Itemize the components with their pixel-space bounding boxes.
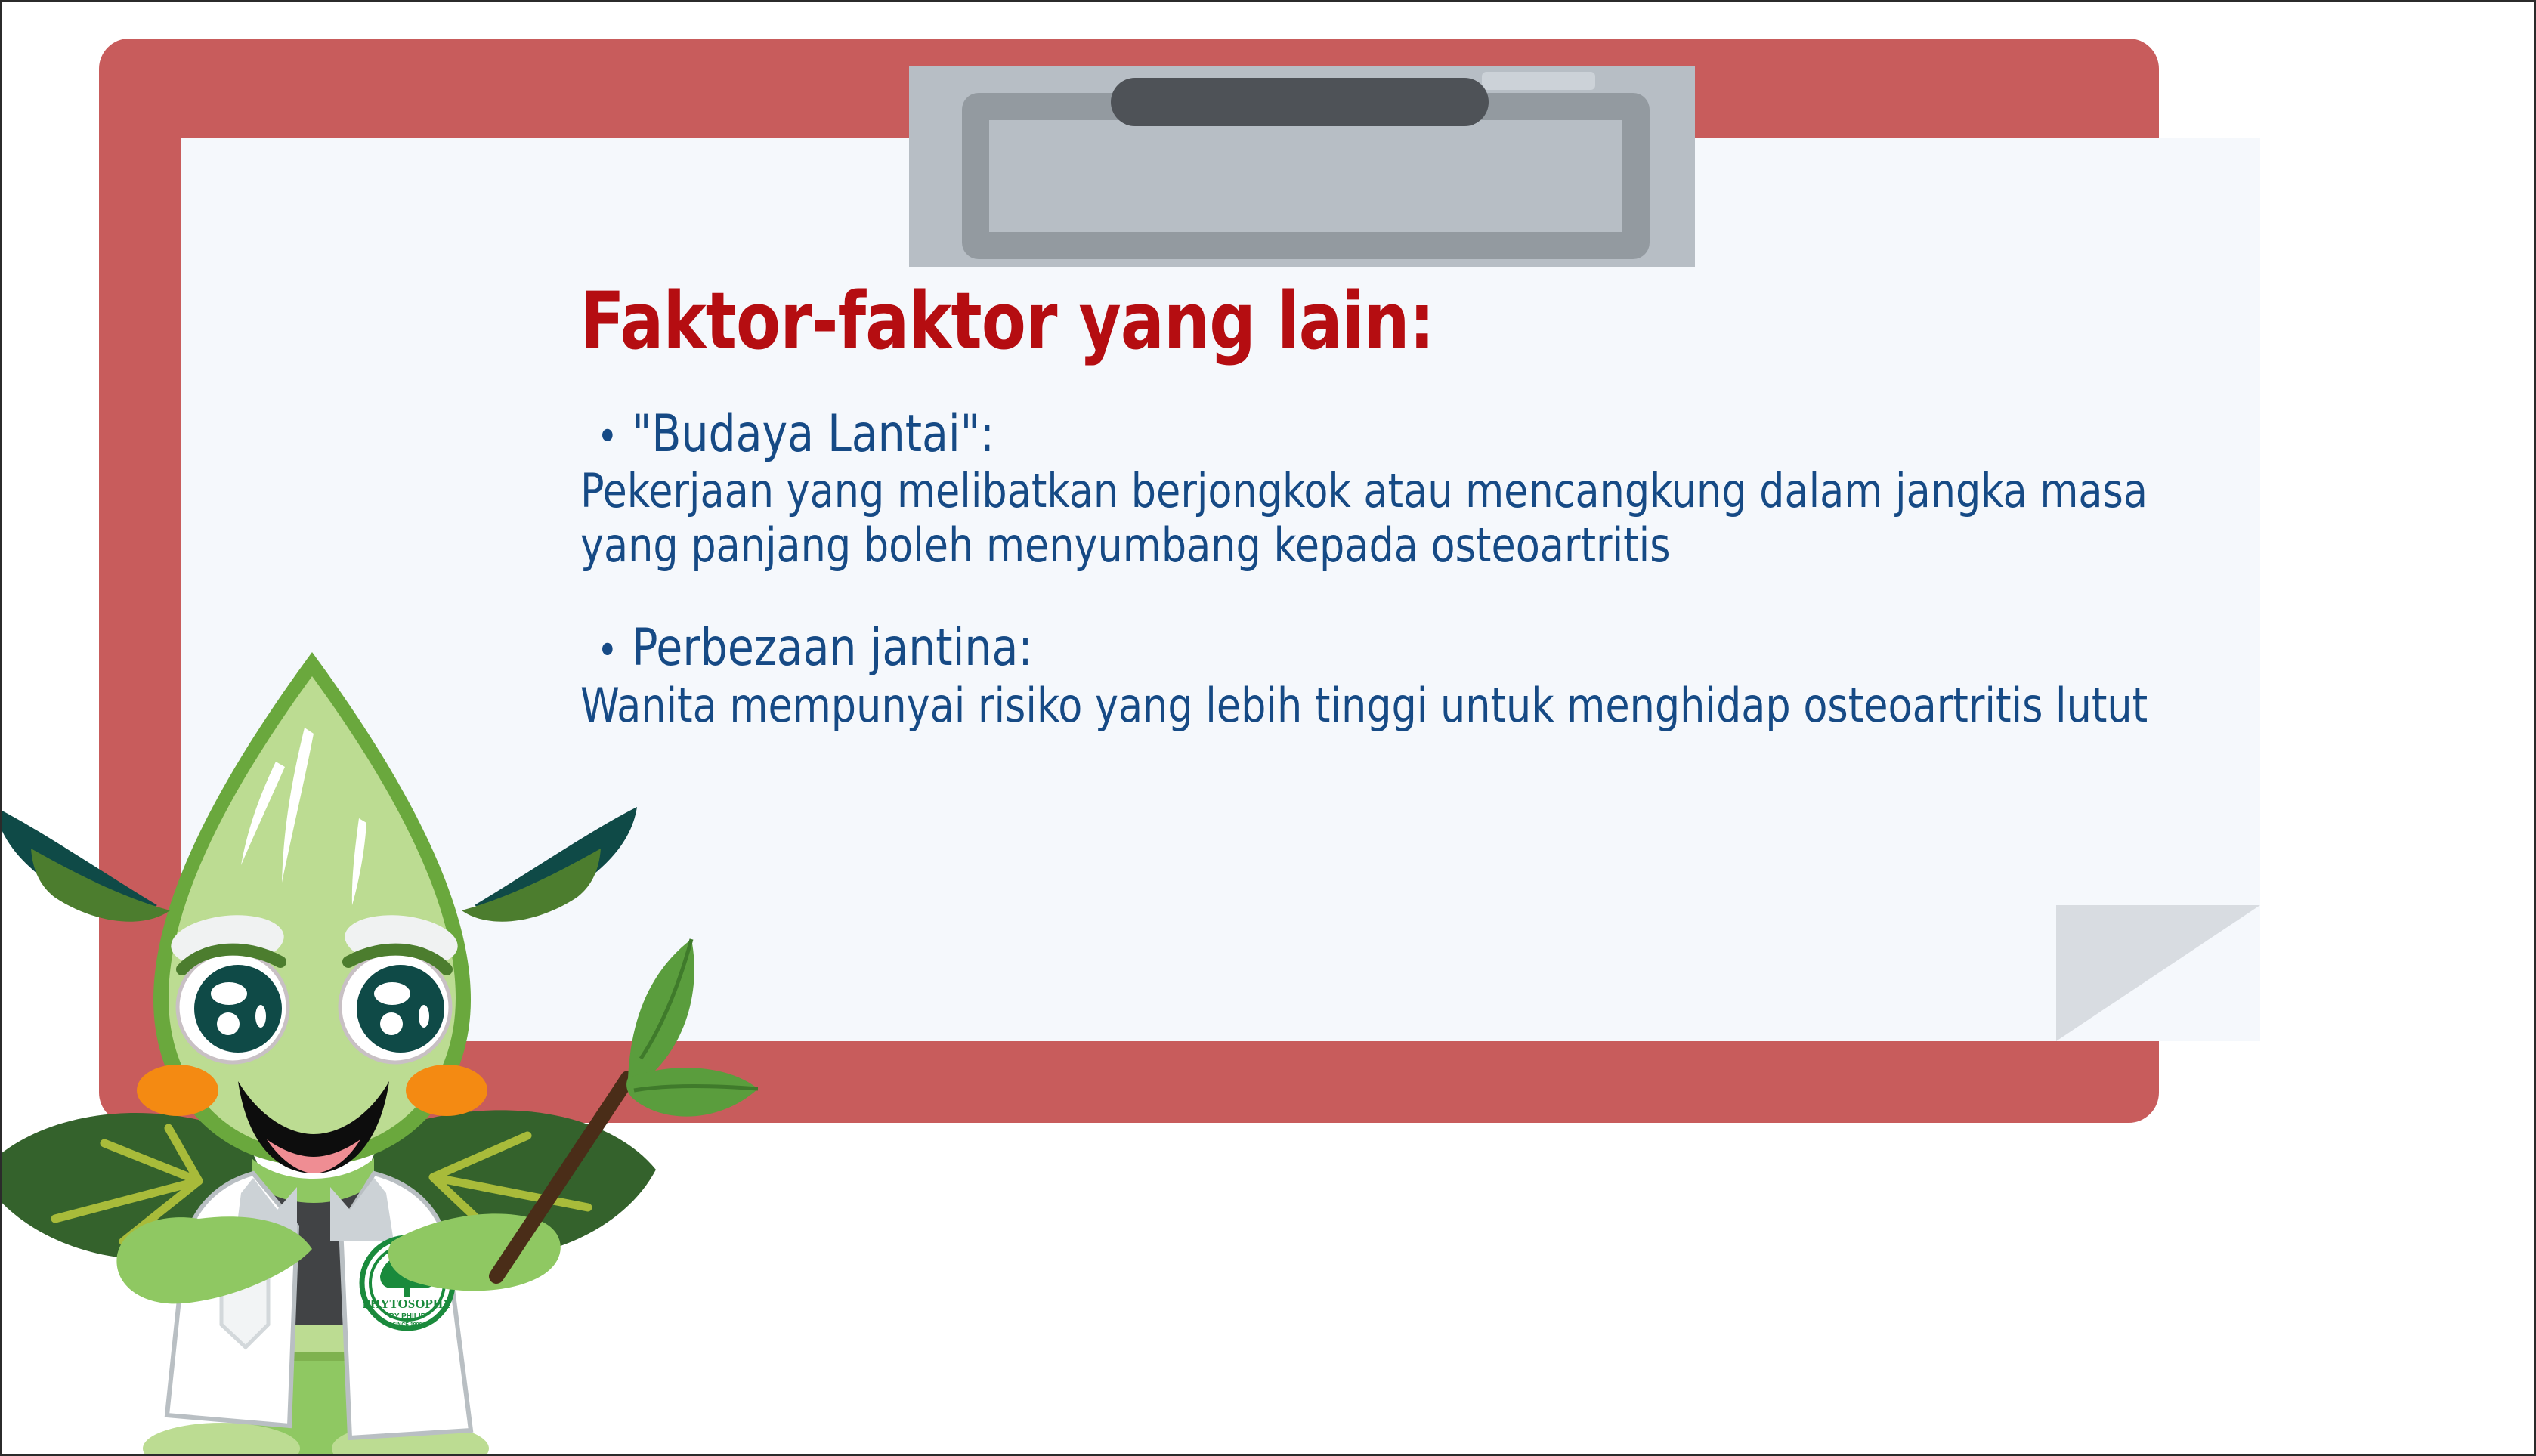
page-title: Faktor-faktor yang lain: xyxy=(580,282,2145,360)
svg-text:PHYTOSOPHY: PHYTOSOPHY xyxy=(363,1297,453,1311)
bullet-heading-1: • "Budaya Lantai": xyxy=(597,407,2163,461)
page-fold-corner xyxy=(2056,905,2260,1041)
clipboard-clip-bar xyxy=(1111,78,1489,126)
bullet-heading-2: • Perbezaan jantina: xyxy=(597,621,2163,675)
mascot-eye-right xyxy=(340,952,450,1062)
svg-text:BY PHILIP: BY PHILIP xyxy=(389,1312,426,1321)
bullet-dot-icon: • xyxy=(597,416,618,459)
bullet-heading-text-1: "Budaya Lantai": xyxy=(632,407,994,461)
body-paragraph-2: Wanita mempunyai risiko yang lebih tingg… xyxy=(580,679,2172,733)
mascot-pointer-stick xyxy=(496,939,758,1276)
slide-content: Faktor-faktor yang lain: • "Budaya Lanta… xyxy=(580,282,2281,781)
content-block-1: • "Budaya Lantai": Pekerjaan yang meliba… xyxy=(580,407,2281,573)
body-paragraph-1: Pekerjaan yang melibatkan berjongkok ata… xyxy=(580,464,2172,573)
clipboard-clip-highlight xyxy=(1482,72,1595,90)
slide-canvas: Faktor-faktor yang lain: • "Budaya Lanta… xyxy=(0,0,2536,1456)
content-block-2: • Perbezaan jantina: Wanita mempunyai ri… xyxy=(580,621,2281,732)
mascot-horn-right xyxy=(462,807,637,922)
mascot-eye-left xyxy=(178,952,288,1062)
mascot-blush-left xyxy=(137,1065,218,1116)
svg-text:SINCE 1996: SINCE 1996 xyxy=(393,1322,422,1328)
mascot-blush-right xyxy=(406,1065,487,1116)
mascot-horn-left xyxy=(0,807,170,922)
mascot-character: PHYTOSOPHY BY PHILIP SINCE 1996 xyxy=(0,645,758,1456)
